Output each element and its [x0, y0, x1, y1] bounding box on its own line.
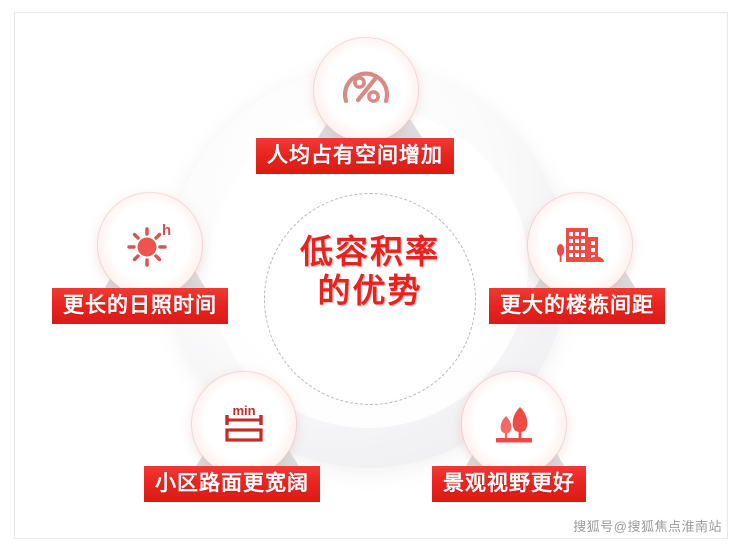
page-title: 低容积率 的优势 — [264, 232, 476, 310]
label-right[interactable]: 更大的楼栋间距 — [489, 288, 665, 324]
label-top[interactable]: 人均占有空间增加 — [256, 138, 454, 174]
center-title-line2: 的优势 — [264, 271, 476, 310]
bubble-bottom-right[interactable] — [462, 372, 566, 476]
bubble-bottom-left[interactable]: min — [192, 372, 296, 476]
label-bottom-left[interactable]: 小区路面更宽阔 — [144, 466, 320, 502]
label-bottom-right-text: 景观视野更好 — [443, 472, 575, 495]
label-bottom-right[interactable]: 景观视野更好 — [432, 466, 586, 502]
watermark: 搜狐号@搜狐焦点淮南站 — [573, 516, 722, 535]
center-title-line1: 低容积率 — [300, 233, 440, 270]
label-left[interactable]: 更长的日照时间 — [52, 288, 228, 324]
trees-icon — [483, 393, 545, 455]
bubble-left[interactable]: h — [98, 193, 202, 297]
label-bottom-left-text: 小区路面更宽阔 — [155, 472, 309, 495]
percent-gauge-icon — [335, 59, 397, 121]
label-right-text: 更大的楼栋间距 — [500, 294, 654, 317]
measure-min-text: min — [232, 403, 255, 418]
min-width-measure-icon: min — [213, 393, 275, 455]
sun-hours-h-text: h — [162, 222, 171, 239]
bubble-top[interactable] — [314, 38, 418, 142]
label-left-text: 更长的日照时间 — [63, 294, 217, 317]
infographic-canvas: 低容积率 的优势 人均占有空间增加 — [0, 0, 740, 547]
sun-hours-icon: h — [119, 214, 181, 276]
bubble-right[interactable] — [528, 193, 632, 297]
label-top-text: 人均占有空间增加 — [267, 144, 443, 167]
buildings-icon — [549, 214, 611, 276]
